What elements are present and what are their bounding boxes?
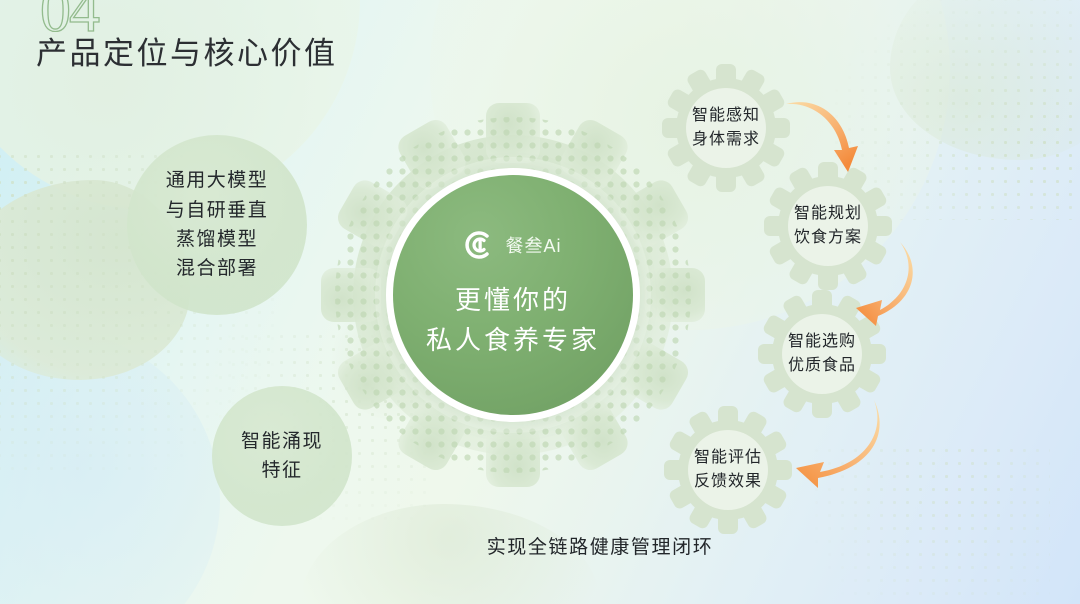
bubble-line: 特征: [261, 456, 302, 485]
bubble-line: 蒸馏模型: [176, 225, 258, 254]
bubble-emergence-feature: 智能涌现 特征: [212, 386, 352, 526]
cansan-c-logo-icon: [464, 229, 496, 261]
footer-caption: 实现全链路健康管理闭环: [0, 532, 1080, 559]
hub-headline-line-1: 更懂你的: [455, 281, 571, 321]
halftone-dots-bottom-right: [810, 444, 1050, 604]
brand-row: 餐叁Ai: [464, 229, 561, 261]
step-gear-buy: 智能选购 优质食品: [756, 288, 888, 420]
background-glow-left: [0, 330, 220, 604]
step-gear-plan: 智能规划 饮食方案: [762, 160, 894, 292]
footer-caption-text: 实现全链路健康管理闭环: [487, 532, 714, 559]
bubble-line: 通用大模型: [166, 166, 269, 195]
bubble-line: 与自研垂直: [166, 196, 269, 225]
bubble-model-deployment: 通用大模型 与自研垂直 蒸馏模型 混合部署: [127, 135, 307, 315]
center-hub: 餐叁Ai 更懂你的 私人食养专家: [386, 168, 640, 422]
slide-canvas: 04 产品定位与核心价值: [0, 0, 1080, 604]
bubble-line: 混合部署: [176, 254, 258, 283]
title-block: 04 产品定位与核心价值: [36, 8, 338, 73]
brand-name: 餐叁Ai: [505, 232, 561, 258]
step-gear-assess: 智能评估 反馈效果: [662, 404, 794, 536]
bubble-line: 智能涌现: [241, 427, 323, 456]
hub-headline-line-2: 私人食养专家: [426, 321, 600, 361]
center-hub-inner: 餐叁Ai 更懂你的 私人食养专家: [393, 175, 633, 415]
page-title: 产品定位与核心价值: [36, 28, 338, 73]
background-blob-top-right: [890, 0, 1080, 160]
